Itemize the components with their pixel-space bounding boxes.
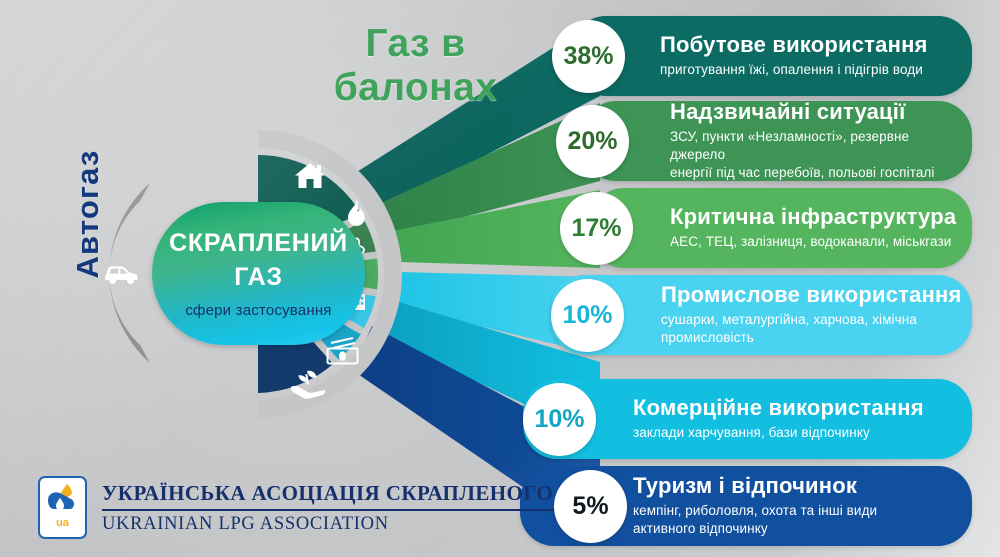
logo-mark-icon: ua (38, 476, 87, 539)
pct-value: 17% (571, 214, 621, 243)
page-title: Газ в балонах (298, 22, 533, 110)
bar-household[interactable]: Побутове використання приготування їжі, … (572, 16, 972, 96)
logo-text: УКРАЇНСЬКА АСОЦІАЦІЯ СКРАПЛЕНОГО ГАЗУ UK… (102, 481, 612, 535)
pct-badge-industrial: 10% (551, 279, 624, 352)
association-logo: ua УКРАЇНСЬКА АСОЦІАЦІЯ СКРАПЛЕНОГО ГАЗУ… (38, 476, 612, 539)
logo-divider (102, 509, 612, 511)
hub-liquefied-gas: СКРАПЛЕНИЙ ГАЗ сфери застосування (152, 202, 365, 345)
pct-value: 5% (572, 492, 608, 521)
bar-heading: Побутове використання (660, 33, 928, 58)
hub-line-1: СКРАПЛЕНИЙ (169, 228, 348, 260)
autogas-label: Автогаз (70, 119, 106, 309)
bar-subtext: приготування їжі, опалення і підігрів во… (660, 61, 928, 79)
title-line-2: балонах (298, 66, 533, 110)
bar-heading: Критична інфраструктура (670, 205, 956, 230)
bar-heading: Промислове використання (661, 283, 962, 308)
pct-badge-emergency: 20% (556, 105, 629, 178)
logo-name-en: UKRAINIAN LPG ASSOCIATION (102, 514, 612, 535)
hub-line-2: ГАЗ (234, 262, 282, 294)
pct-value: 20% (567, 127, 617, 156)
car-icon (105, 266, 137, 284)
pct-badge-infrastructure: 17% (560, 192, 633, 265)
svg-text:ua: ua (56, 517, 70, 529)
pct-badge-tourism: 5% (554, 470, 627, 543)
bar-heading: Туризм і відпочинок (633, 474, 877, 499)
bar-subtext: АЕС, ТЕЦ, залізниця, водоканали, міськга… (670, 233, 956, 251)
pct-badge-household: 38% (552, 20, 625, 93)
logo-flame-droplet-icon: ua (40, 478, 85, 537)
bar-heading: Комерційне використання (633, 396, 924, 421)
bar-heading: Надзвичайні ситуації (670, 100, 954, 125)
pct-badge-commercial: 10% (523, 383, 596, 456)
pct-value: 10% (534, 405, 584, 434)
bar-subtext-2: енергії під час перебоїв, польові госпіт… (670, 164, 954, 182)
bar-subtext: кемпінг, риболовля, охота та інші види (633, 502, 877, 520)
logo-name-uk: УКРАЇНСЬКА АСОЦІАЦІЯ СКРАПЛЕНОГО ГАЗУ (102, 481, 612, 506)
pct-value: 10% (562, 301, 612, 330)
infographic-canvas: Газ в балонах Автогаз СКРАПЛЕНИЙ ГАЗ сфе… (0, 0, 1000, 557)
bar-emergency[interactable]: Надзвичайні ситуації ЗСУ, пункти «Незлам… (582, 101, 972, 181)
bar-subtext-2: промисловість (661, 329, 962, 347)
bar-subtext: сушарки, металургійна, харчова, хімічна (661, 311, 962, 329)
bar-infrastructure[interactable]: Критична інфраструктура АЕС, ТЕЦ, залізн… (590, 188, 972, 268)
bar-subtext: ЗСУ, пункти «Незламності», резервне джер… (670, 128, 954, 164)
bar-subtext-2: активного відпочинку (633, 520, 877, 538)
pct-value: 38% (563, 42, 613, 71)
hub-subtitle: сфери застосування (185, 302, 331, 319)
bar-subtext: заклади харчування, бази відпочинку (633, 424, 924, 442)
title-line-1: Газ в (298, 22, 533, 66)
